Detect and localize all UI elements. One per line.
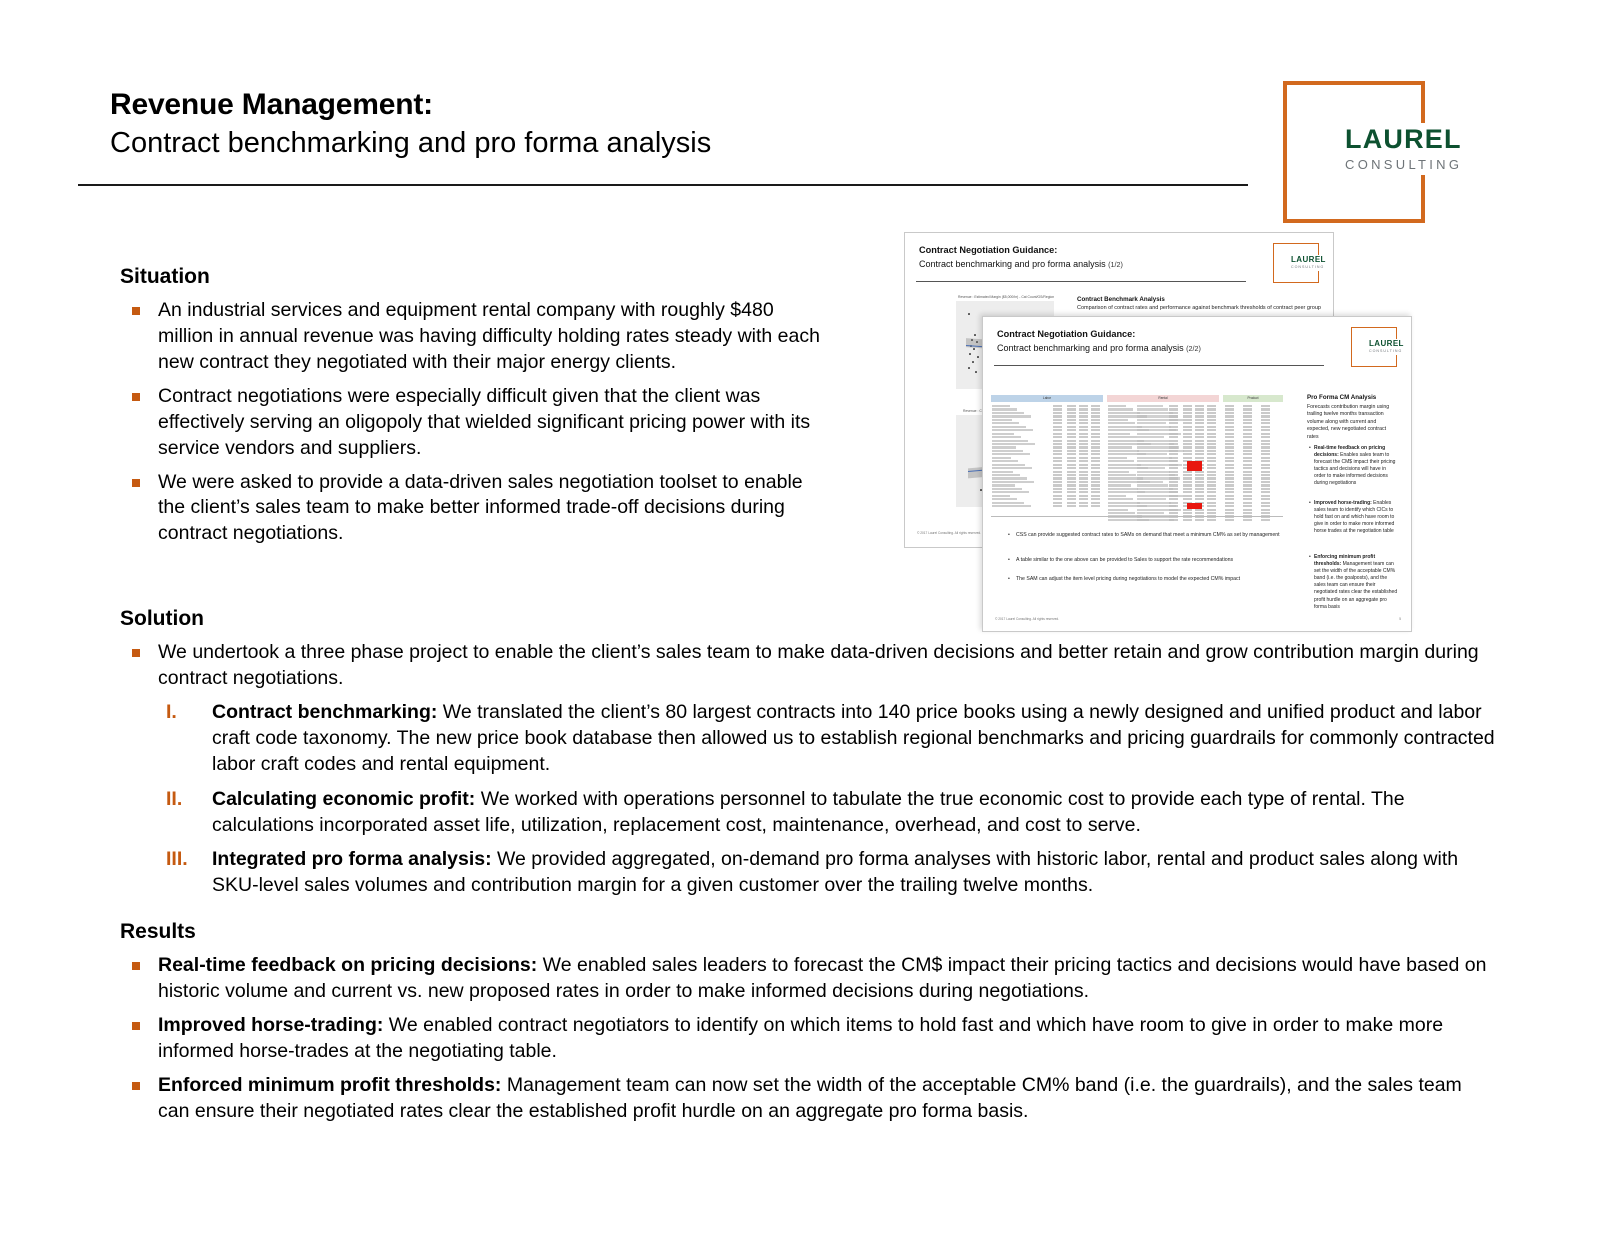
phase-lead: Contract benchmarking: <box>212 701 437 723</box>
situation-bullet-list: An industrial services and equipment ren… <box>120 298 832 555</box>
thumb2-title-sub: Contract benchmarking and pro forma anal… <box>997 343 1201 355</box>
logo-name: LAUREL <box>1345 126 1462 153</box>
thumb1-panel-body: Comparison of contract rates and perform… <box>1077 305 1325 312</box>
thumb1-logo: LAUREL CONSULTING <box>1273 243 1319 283</box>
list-item: II. Calculating economic profit: We work… <box>120 787 1498 839</box>
table-group-header: Labor <box>991 395 1103 402</box>
bullet-square-icon <box>132 649 140 657</box>
page-title-main: Revenue Management: <box>110 88 711 121</box>
table-group-header: Rental <box>1107 395 1219 402</box>
thumb1-logo-name: LAUREL <box>1291 256 1326 264</box>
thumb1-divider <box>916 281 1246 282</box>
thumb2-page-indicator: (2/2) <box>1186 344 1201 353</box>
list-item: We were asked to provide a data-driven s… <box>120 470 832 548</box>
list-item-text: An industrial services and equipment ren… <box>158 299 820 373</box>
bullet-square-icon <box>132 962 140 970</box>
thumb2-bullet-lead: Improved horse-trading: <box>1314 500 1372 506</box>
situation-heading: Situation <box>120 265 210 289</box>
slide-header: Revenue Management: Contract benchmarkin… <box>0 0 1618 200</box>
table-group-label: Labor <box>991 395 1103 402</box>
bullet-square-icon <box>132 1022 140 1030</box>
thumb2-panel-heading: Pro Forma CM Analysis <box>1307 394 1376 401</box>
thumb2-bullet-body: Management team can set the width of the… <box>1314 561 1397 610</box>
thumb2-logo: LAUREL CONSULTING <box>1351 327 1397 367</box>
thumb2-divider <box>994 365 1324 366</box>
bullet-square-icon <box>132 393 140 401</box>
thumb2-footer-bullet: A table similar to the one above can be … <box>1007 557 1316 565</box>
list-item: We undertook a three phase project to en… <box>120 640 1498 692</box>
thumb1-title-sub: Contract benchmarking and pro forma anal… <box>919 259 1123 271</box>
logo-text: LAUREL CONSULTING <box>1345 126 1462 171</box>
solution-bullet-list: We undertook a three phase project to en… <box>120 640 1498 908</box>
bullet-square-icon <box>132 1082 140 1090</box>
roman-numeral: III. <box>166 847 206 873</box>
thumb1-logo-tagline: CONSULTING <box>1291 266 1326 270</box>
result-lead: Improved horse-trading: <box>158 1014 383 1036</box>
thumb1-logo-text: LAUREL CONSULTING <box>1291 256 1326 270</box>
list-item: Improved horse-trading: We enabled contr… <box>120 1013 1498 1065</box>
table-group-header: Product <box>1223 395 1283 402</box>
list-item: Contract negotiations were especially di… <box>120 384 832 462</box>
thumb2-data-table: Labor Rental Product <box>991 395 1301 523</box>
thumb1-footer: © 2017 Laurel Consulting. All rights res… <box>917 531 981 535</box>
result-lead: Real-time feedback on pricing decisions: <box>158 954 537 976</box>
thumb2-title: Contract Negotiation Guidance: Contract … <box>997 329 1201 354</box>
solution-heading: Solution <box>120 607 204 631</box>
thumb2-panel-body: Forecasts contribution margin using trai… <box>1307 404 1395 441</box>
thumb1-panel-heading: Contract Benchmark Analysis <box>1077 296 1165 303</box>
thumb2-logo-name: LAUREL <box>1369 340 1404 348</box>
list-item-text: Contract negotiations were especially di… <box>158 385 810 459</box>
thumb2-logo-tagline: CONSULTING <box>1369 350 1404 354</box>
thumb2-page-number: 5 <box>1399 617 1401 621</box>
thumb2-panel-bullet: Improved horse-trading: Enables sales te… <box>1309 500 1398 535</box>
thumb2-footer: © 2017 Laurel Consulting. All rights res… <box>995 617 1059 621</box>
thumb2-title-sub-text: Contract benchmarking and pro forma anal… <box>997 343 1184 353</box>
table-highlight-cell <box>1187 503 1202 509</box>
list-item: III. Integrated pro forma analysis: We p… <box>120 847 1498 899</box>
table-group-label: Product <box>1223 395 1283 402</box>
thumb1-title-sub-text: Contract benchmarking and pro forma anal… <box>919 259 1106 269</box>
table-group-label: Rental <box>1107 395 1219 402</box>
thumb2-panel-bullet: Enforcing minimum profit thresholds: Man… <box>1309 554 1398 611</box>
slide-thumbnail-group: Contract Negotiation Guidance: Contract … <box>900 230 1420 630</box>
results-bullet-list: Real-time feedback on pricing decisions:… <box>120 953 1498 1133</box>
page-title: Revenue Management: Contract benchmarkin… <box>110 88 711 160</box>
results-heading: Results <box>120 920 196 944</box>
roman-numeral: II. <box>166 787 206 813</box>
list-item: Enforced minimum profit thresholds: Mana… <box>120 1073 1498 1125</box>
logo-tagline: CONSULTING <box>1345 158 1462 171</box>
thumbnail-slide-2[interactable]: Contract Negotiation Guidance: Contract … <box>982 316 1412 632</box>
table-total-divider <box>991 516 1283 517</box>
thumb1-chart1-caption: Revenue : Estimated Margin ($5,000/hr) -… <box>958 295 1054 299</box>
list-item: Real-time feedback on pricing decisions:… <box>120 953 1498 1005</box>
bullet-square-icon <box>132 479 140 487</box>
thumb2-footer-bullet: The SAM can adjust the item level pricin… <box>1007 576 1316 584</box>
laurel-consulting-logo: LAUREL CONSULTING <box>1283 81 1425 223</box>
list-item-text: We undertook a three phase project to en… <box>158 641 1479 689</box>
list-item-text: We were asked to provide a data-driven s… <box>158 471 803 545</box>
thumb2-panel-bullet: Real-time feedback on pricing decisions:… <box>1309 445 1398 488</box>
title-divider <box>78 184 1248 186</box>
roman-numeral: I. <box>166 700 206 726</box>
result-lead: Enforced minimum profit thresholds: <box>158 1074 501 1096</box>
thumb2-footer-bullet: CSS can provide suggested contract rates… <box>1007 532 1316 540</box>
phase-lead: Calculating economic profit: <box>212 788 475 810</box>
list-item: I. Contract benchmarking: We translated … <box>120 700 1498 778</box>
bullet-square-icon <box>132 307 140 315</box>
thumb1-title: Contract Negotiation Guidance: Contract … <box>919 245 1123 270</box>
phase-lead: Integrated pro forma analysis: <box>212 848 492 870</box>
thumb2-title-main: Contract Negotiation Guidance: <box>997 329 1201 341</box>
thumb1-title-main: Contract Negotiation Guidance: <box>919 245 1123 257</box>
thumb1-page-indicator: (1/2) <box>1108 260 1123 269</box>
page-title-sub: Contract benchmarking and pro forma anal… <box>110 127 711 160</box>
thumb2-logo-text: LAUREL CONSULTING <box>1369 340 1404 354</box>
table-highlight-cell <box>1187 461 1202 471</box>
list-item: An industrial services and equipment ren… <box>120 298 832 376</box>
